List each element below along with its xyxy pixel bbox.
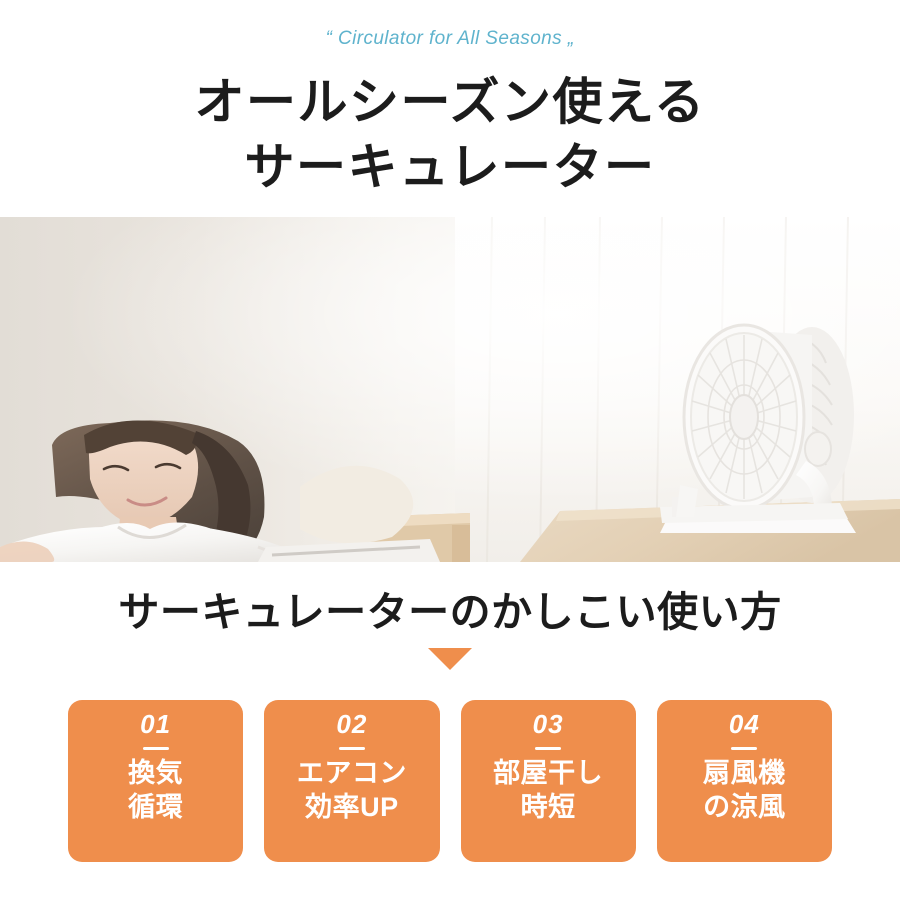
hero-photo-illustration: [0, 217, 900, 562]
usage-card-label-line-2: 効率UP: [305, 790, 399, 825]
usage-card-label-line-2: 循環: [128, 790, 183, 825]
promo-page: “ Circulator for All Seasons „ オールシーズン使え…: [0, 0, 900, 900]
usage-card-label-line-1: 部屋干し: [493, 756, 603, 791]
usage-card-label-line-1: 扇風機: [703, 756, 786, 791]
tagline: “ Circulator for All Seasons „: [0, 28, 900, 50]
usage-card-list: 01 換気 循環 02 エアコン 効率UP 03 部屋干し 時短 04 扇風機 …: [68, 700, 832, 862]
header-section: “ Circulator for All Seasons „ オールシーズン使え…: [0, 0, 900, 217]
usage-card-divider: [731, 747, 757, 750]
usage-card-number: 01: [140, 710, 171, 740]
usage-card-divider: [339, 747, 365, 750]
page-title-line-1: オールシーズン使える: [0, 70, 900, 135]
page-title: オールシーズン使える サーキュレーター: [0, 70, 900, 200]
usage-card-label-line-2: 時短: [521, 790, 576, 825]
usage-card-label-line-1: エアコン: [297, 756, 407, 791]
usage-card-number: 02: [336, 710, 367, 740]
usage-card-number: 03: [533, 710, 564, 740]
usage-card-01[interactable]: 01 換気 循環: [68, 700, 243, 862]
usage-card-label-line-1: 換気: [128, 756, 183, 791]
usage-section-heading: サーキュレーターのかしこい使い方: [0, 578, 900, 638]
usage-card-number: 04: [729, 710, 760, 740]
usage-card-divider: [143, 747, 169, 750]
chevron-down-icon: [428, 648, 472, 670]
usage-card-03[interactable]: 03 部屋干し 時短: [461, 700, 636, 862]
usage-card-label-line-2: の涼風: [703, 790, 786, 825]
usage-card-02[interactable]: 02 エアコン 効率UP: [264, 700, 439, 862]
usage-card-04[interactable]: 04 扇風機 の涼風: [657, 700, 832, 862]
page-title-line-2: サーキュレーター: [0, 135, 900, 200]
usage-card-divider: [535, 747, 561, 750]
hero-photo: [0, 217, 900, 562]
